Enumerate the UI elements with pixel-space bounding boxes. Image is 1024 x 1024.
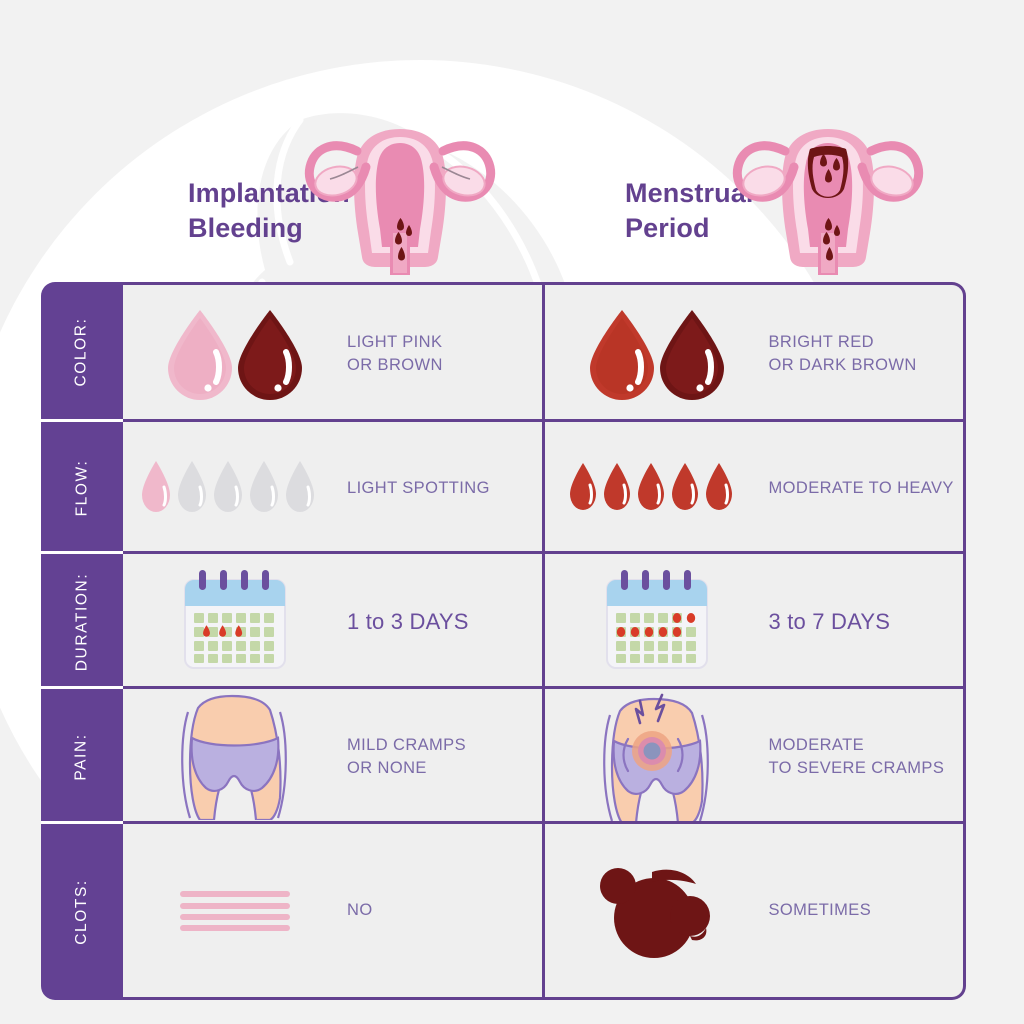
row-label-text: PAIN: — [73, 733, 91, 780]
row-divider — [123, 686, 966, 689]
label-divider — [41, 821, 123, 824]
row-label-text: DURATION: — [73, 572, 91, 671]
cell-color-menstrual: BRIGHT RED OR DARK BROWN — [545, 285, 964, 422]
cell-duration-implantation: 1 to 3 DAYS — [123, 554, 545, 689]
drop-rating-icon — [545, 457, 769, 519]
calendar-icon — [123, 568, 347, 676]
row-label-duration: DURATION: — [41, 554, 123, 689]
row-divider — [123, 551, 966, 554]
cell-text-flow-menstrual: MODERATE TO HEAVY — [769, 477, 954, 499]
table-row: DURATION: — [41, 554, 966, 689]
cell-pain-menstrual: MODERATE TO SEVERE CRAMPS — [545, 689, 964, 824]
cell-text-clots-implantation: NO — [347, 899, 373, 921]
drop-rating-icon — [123, 457, 347, 519]
comparison-table: COLOR: — [41, 282, 966, 1000]
cell-text-clots-menstrual: SOMETIMES — [769, 899, 872, 921]
cell-text-color-implantation: LIGHT PINK OR BROWN — [347, 331, 443, 376]
row-label-clots: CLOTS: — [41, 824, 123, 1000]
blood-drop-pair-icon — [123, 302, 347, 406]
row-label-color: COLOR: — [41, 282, 123, 422]
row-label-text: FLOW: — [73, 460, 91, 517]
cell-text-duration-implantation: 1 to 3 DAYS — [347, 607, 469, 637]
row-label-flow: FLOW: — [41, 422, 123, 554]
calendar-icon — [545, 568, 769, 676]
label-divider — [41, 686, 123, 689]
cell-text-pain-implantation: MILD CRAMPS OR NONE — [347, 734, 466, 779]
pink-lines-icon — [123, 889, 347, 933]
underwear-icon — [123, 694, 347, 820]
cell-clots-implantation: NO — [123, 824, 545, 997]
uterus-implantation-icon — [300, 105, 500, 280]
row-label-pain: PAIN: — [41, 689, 123, 824]
row-divider — [123, 821, 966, 824]
cell-text-flow-implantation: LIGHT SPOTTING — [347, 477, 490, 499]
uterus-menstrual-icon — [728, 105, 928, 280]
table-row: FLOW: — [41, 422, 966, 554]
cell-text-color-menstrual: BRIGHT RED OR DARK BROWN — [769, 331, 917, 376]
cell-clots-menstrual: SOMETIMES — [545, 824, 964, 997]
label-divider — [41, 551, 123, 554]
cell-text-duration-menstrual: 3 to 7 DAYS — [769, 607, 891, 637]
cell-pain-implantation: MILD CRAMPS OR NONE — [123, 689, 545, 824]
cell-flow-menstrual: MODERATE TO HEAVY — [545, 422, 964, 554]
cell-flow-implantation: LIGHT SPOTTING — [123, 422, 545, 554]
label-divider — [41, 419, 123, 422]
cell-text-pain-menstrual: MODERATE TO SEVERE CRAMPS — [769, 734, 945, 779]
cell-duration-menstrual: 3 to 7 DAYS — [545, 554, 964, 689]
table-row: PAIN: MILD CRAMPS OR NONE — [41, 689, 966, 824]
cell-color-implantation: LIGHT PINK OR BROWN — [123, 285, 545, 422]
row-divider — [123, 419, 966, 422]
row-label-text: COLOR: — [73, 317, 91, 386]
blood-drop-pair-icon — [545, 302, 769, 406]
table-row: COLOR: — [41, 282, 966, 422]
table-row: CLOTS: NO — [41, 824, 966, 1000]
row-label-text: CLOTS: — [73, 879, 91, 945]
blood-clot-icon — [545, 858, 769, 964]
infographic-header: Implantation Bleeding Menstrual Period — [0, 0, 1024, 282]
underwear-pain-icon — [545, 691, 769, 823]
